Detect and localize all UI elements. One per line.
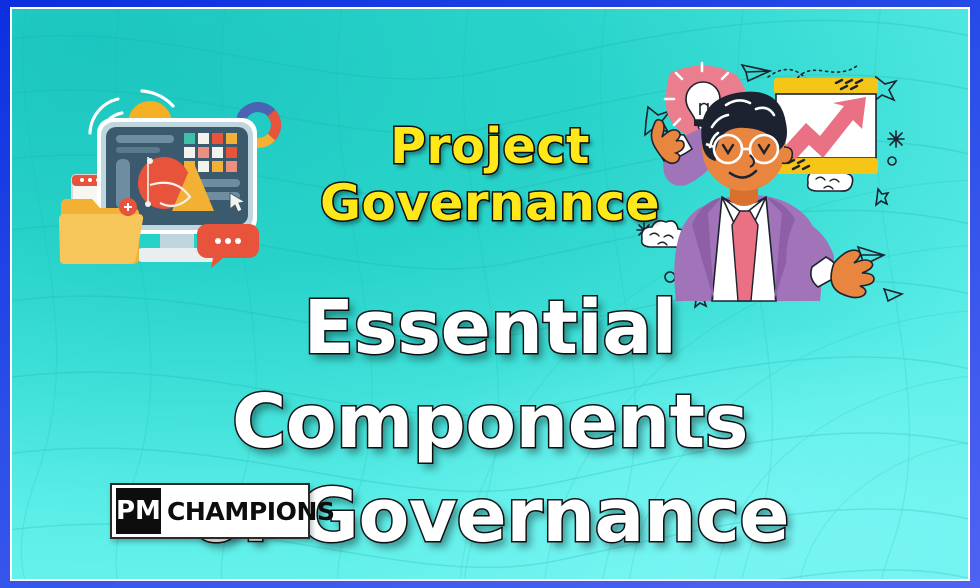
banner-canvas: Project Governance Essential Components … (0, 0, 980, 588)
illustration-left (60, 61, 310, 281)
pm-champions-logo[interactable]: PM CHAMPIONS (110, 483, 310, 539)
logo-wordmark: CHAMPIONS (167, 497, 335, 526)
artwork-background: Project Governance Essential Components … (12, 9, 968, 579)
logo-mark: PM (116, 488, 161, 534)
illustration-right (630, 51, 940, 301)
